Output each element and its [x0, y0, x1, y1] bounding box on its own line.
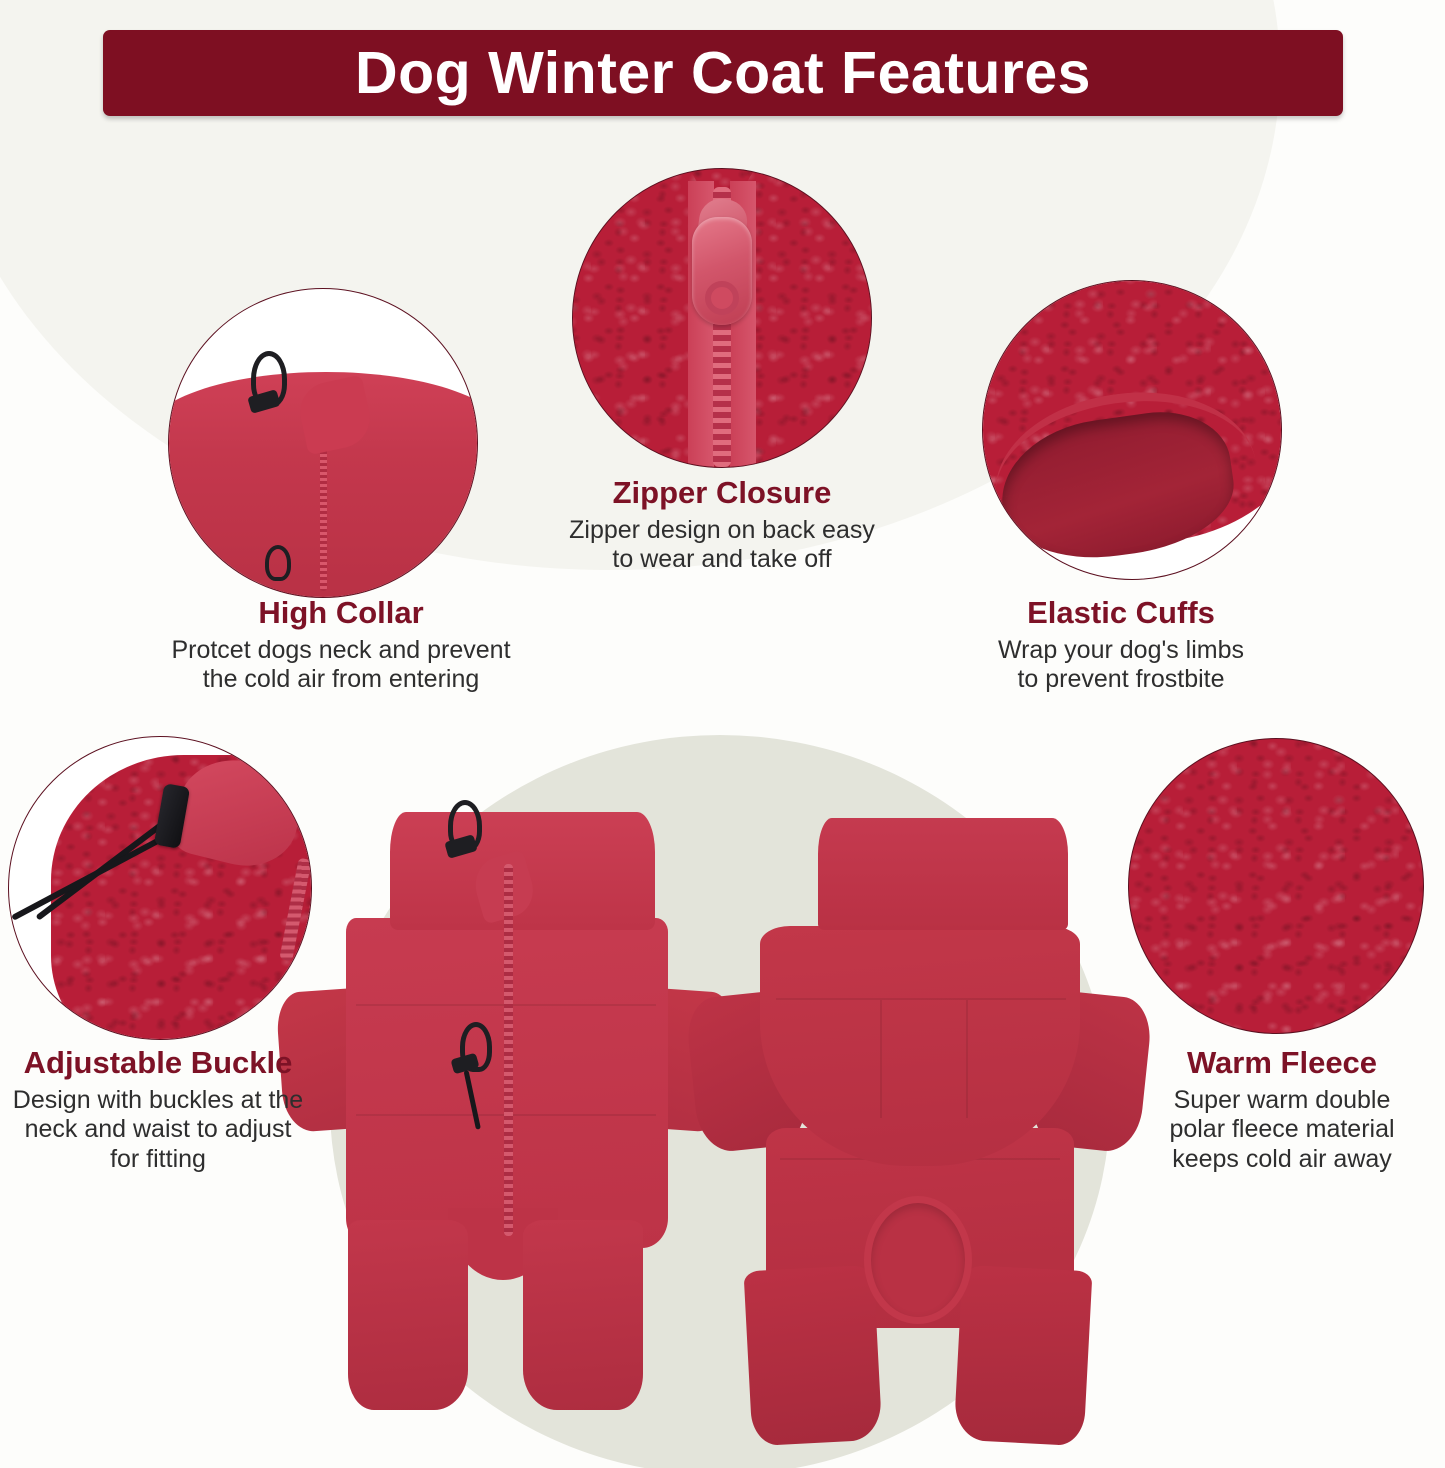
warm-fleece-description: Super warm double polar fleece material …: [1132, 1086, 1432, 1175]
caption-zipper-closure: Zipper Closure Zipper design on back eas…: [512, 476, 932, 575]
adjustable-buckle-title: Adjustable Buckle: [0, 1046, 316, 1081]
feature-high-collar: [168, 288, 478, 598]
back-seam-yoke: [776, 998, 1066, 1000]
zipper-closure-description: Zipper design on back easy to wear and t…: [512, 516, 932, 575]
elastic-cuffs-description: Wrap your dog's limbs to prevent frostbi…: [938, 636, 1304, 695]
back-leg-right: [954, 1265, 1093, 1447]
title-banner: Dog Winter Coat Features: [103, 30, 1343, 116]
high-collar-description: Protcet dogs neck and prevent the cold a…: [108, 636, 574, 695]
front-zipper: [504, 864, 513, 1236]
caption-high-collar: High Collar Protcet dogs neck and preven…: [108, 596, 574, 695]
back-leg-left: [744, 1265, 883, 1447]
elastic-cuffs-title: Elastic Cuffs: [938, 596, 1304, 631]
zipper-closure-title: Zipper Closure: [512, 476, 932, 511]
back-seam-center-right: [966, 1000, 968, 1118]
adjustable-buckle-image: [8, 736, 312, 1040]
feature-zipper-closure: [572, 168, 872, 468]
caption-warm-fleece: Warm Fleece Super warm double polar flee…: [1132, 1046, 1432, 1174]
back-seam-center: [880, 1000, 882, 1118]
feature-warm-fleece: [1128, 738, 1424, 1034]
product-front-view: [318, 800, 738, 1450]
infographic-page: Dog Winter Coat Features High Collar Pro…: [0, 0, 1445, 1468]
lower-drawstring-loop-icon: [265, 545, 291, 581]
high-collar-title: High Collar: [108, 596, 574, 631]
page-title: Dog Winter Coat Features: [355, 44, 1091, 103]
elastic-cuffs-image: [982, 280, 1282, 580]
feature-adjustable-buckle: [8, 736, 312, 1040]
warm-fleece-title: Warm Fleece: [1132, 1046, 1432, 1081]
product-back-view: [726, 798, 1146, 1458]
zipper-closure-image: [572, 168, 872, 468]
high-collar-image: [168, 288, 478, 598]
adjustable-buckle-description: Design with buckles at the neck and wais…: [0, 1086, 316, 1175]
feature-elastic-cuffs: [982, 280, 1282, 580]
front-leg-left: [348, 1220, 468, 1410]
caption-adjustable-buckle: Adjustable Buckle Design with buckles at…: [0, 1046, 316, 1174]
warm-fleece-image: [1128, 738, 1424, 1034]
back-high-collar: [818, 818, 1068, 930]
zipper-slider: [692, 217, 752, 325]
back-belly-opening: [864, 1196, 972, 1324]
front-leg-right: [523, 1220, 643, 1410]
caption-elastic-cuffs: Elastic Cuffs Wrap your dog's limbs to p…: [938, 596, 1304, 695]
